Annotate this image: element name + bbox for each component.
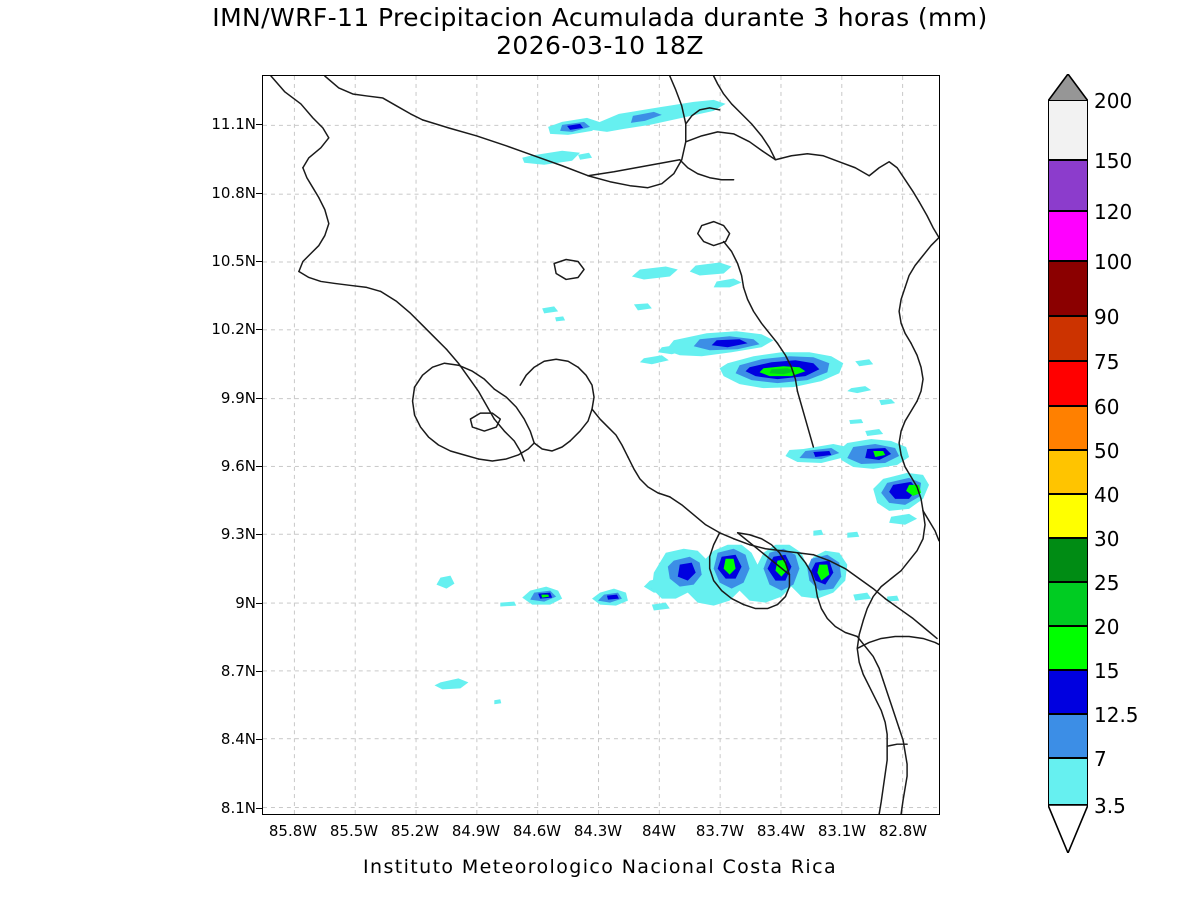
x-tick-label: 84.3W	[574, 822, 622, 840]
colorbar-label: 150	[1094, 149, 1132, 173]
y-tick-label: 9.3N	[196, 525, 256, 543]
colorbar-swatch-150[interactable]	[1048, 160, 1088, 211]
colorbar-label: 25	[1094, 571, 1119, 595]
y-tick-label: 10.2N	[196, 320, 256, 338]
colorbar-swatch-40[interactable]	[1048, 494, 1088, 538]
y-tick-mark	[256, 808, 263, 809]
colorbar-swatch-20[interactable]	[1048, 626, 1088, 670]
y-tick-label: 8.7N	[196, 662, 256, 680]
colorbar-swatch-30[interactable]	[1048, 538, 1088, 582]
x-tick-label: 84.6W	[513, 822, 561, 840]
colorbar-swatch-7[interactable]	[1048, 758, 1088, 805]
precip-contours	[434, 76, 939, 704]
colorbar-label: 50	[1094, 439, 1119, 463]
x-tick-label: 83.4W	[757, 822, 805, 840]
grid-vertical	[294, 76, 903, 814]
coastline-outlines	[271, 76, 939, 814]
title-line-2: 2026-03-10 18Z	[0, 32, 1200, 60]
colorbar-swatch-120[interactable]	[1048, 211, 1088, 261]
x-tick-label: 85.2W	[391, 822, 439, 840]
x-tick-label: 82.8W	[879, 822, 927, 840]
grid-horizontal	[263, 125, 939, 808]
plot-frame	[262, 75, 940, 815]
colorbar-swatch-15[interactable]	[1048, 670, 1088, 714]
colorbar-label: 120	[1094, 200, 1132, 224]
y-tick-mark	[256, 261, 263, 262]
y-tick-mark	[256, 124, 263, 125]
y-tick-mark	[256, 671, 263, 672]
colorbar-label: 7	[1094, 747, 1107, 771]
x-tick-label: 83.1W	[818, 822, 866, 840]
colorbar-label: 90	[1094, 305, 1119, 329]
colorbar-label: 60	[1094, 395, 1119, 419]
colorbar-label: 12.5	[1094, 703, 1139, 727]
y-tick-label: 11.1N	[196, 115, 256, 133]
colorbar-swatch-90[interactable]	[1048, 316, 1088, 361]
x-tick-label: 83.7W	[696, 822, 744, 840]
y-tick-label: 9.6N	[196, 457, 256, 475]
colorbar-swatch-60[interactable]	[1048, 406, 1088, 450]
y-tick-label: 9.9N	[196, 389, 256, 407]
colorbar-swatch-50[interactable]	[1048, 450, 1088, 494]
y-tick-label: 8.1N	[196, 799, 256, 817]
colorbar-label: 15	[1094, 659, 1119, 683]
x-tick-label: 85.8W	[269, 822, 317, 840]
y-tick-mark	[256, 329, 263, 330]
colorbar-label: 30	[1094, 527, 1119, 551]
x-tick-label: 84W	[642, 822, 676, 840]
y-tick-mark	[256, 466, 263, 467]
y-tick-label: 10.5N	[196, 252, 256, 270]
y-tick-mark	[256, 603, 263, 604]
y-tick-mark	[256, 193, 263, 194]
colorbar-label: 40	[1094, 483, 1119, 507]
colorbar-label: 100	[1094, 250, 1132, 274]
title-line-1: IMN/WRF-11 Precipitacion Acumulada duran…	[0, 4, 1200, 32]
x-tick-label: 84.9W	[452, 822, 500, 840]
colorbar-swatch-200[interactable]	[1048, 100, 1088, 160]
precipitation-colorbar[interactable]: 200 150 120 100 90 75 60 50 40 30 25 20 …	[1048, 100, 1088, 812]
colorbar-label: 3.5	[1094, 794, 1126, 818]
x-tick-label: 85.5W	[330, 822, 378, 840]
colorbar-label: 200	[1094, 89, 1132, 113]
precipitation-map	[263, 76, 939, 814]
colorbar-swatch-25[interactable]	[1048, 582, 1088, 626]
colorbar-swatch-75[interactable]	[1048, 361, 1088, 406]
y-tick-mark	[256, 534, 263, 535]
footer-caption: Instituto Meteorologico Nacional Costa R…	[0, 856, 1200, 878]
y-tick-mark	[256, 398, 263, 399]
colorbar-swatch-12p5[interactable]	[1048, 714, 1088, 758]
y-tick-label: 8.4N	[196, 730, 256, 748]
colorbar-label: 20	[1094, 615, 1119, 639]
colorbar-over-arrow	[1048, 74, 1088, 101]
y-tick-label: 9N	[196, 594, 256, 612]
y-tick-mark	[256, 739, 263, 740]
y-tick-label: 10.8N	[196, 184, 256, 202]
colorbar-label: 75	[1094, 350, 1119, 374]
chart-title-block: IMN/WRF-11 Precipitacion Acumulada duran…	[0, 4, 1200, 60]
colorbar-swatch-100[interactable]	[1048, 261, 1088, 316]
map-plot-area	[262, 75, 940, 815]
colorbar-under-arrow	[1048, 805, 1088, 853]
